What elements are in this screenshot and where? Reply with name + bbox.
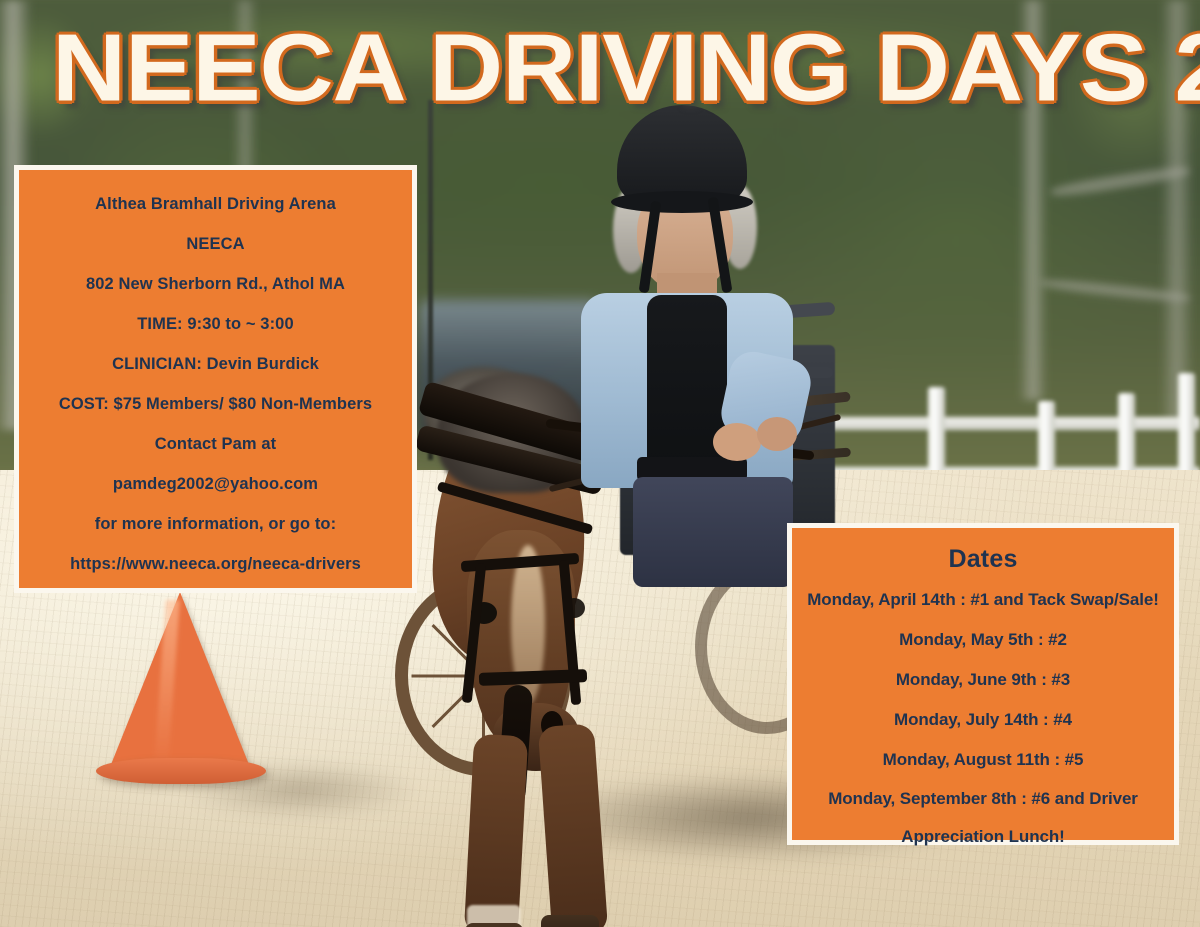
info-line-time: TIME: 9:30 to ~ 3:00 [29, 304, 402, 344]
info-line-address: 802 New Sherborn Rd., Athol MA [29, 264, 402, 304]
info-line-cost: COST: $75 Members/ $80 Non-Members [29, 384, 402, 424]
info-line-venue: Althea Bramhall Driving Arena [29, 184, 402, 224]
event-info-panel: Althea Bramhall Driving Arena NEECA 802 … [14, 165, 417, 593]
cart-driver [575, 105, 795, 525]
date-entry-1: Monday, April 14th : #1 and Tack Swap/Sa… [798, 580, 1168, 620]
date-entry-3: Monday, June 9th : #3 [798, 660, 1168, 700]
date-entry-4: Monday, July 14th : #4 [798, 700, 1168, 740]
info-line-email[interactable]: pamdeg2002@yahoo.com [29, 464, 402, 504]
date-entry-2: Monday, May 5th : #2 [798, 620, 1168, 660]
date-entry-5: Monday, August 11th : #5 [798, 740, 1168, 780]
info-line-clinician: CLINICIAN: Devin Burdick [29, 344, 402, 384]
traffic-cone-base [96, 758, 266, 784]
driver-lap-apron [633, 477, 793, 587]
event-poster: NEECA DRIVING DAYS 2025 Althea Bramhall … [0, 0, 1200, 927]
date-entry-6: Monday, September 8th : #6 and Driver Ap… [798, 780, 1168, 856]
driver-hand [757, 417, 797, 451]
pony-hoof [465, 923, 523, 927]
info-line-more-info: for more information, or go to: [29, 504, 402, 544]
info-line-contact: Contact Pam at [29, 424, 402, 464]
info-line-website[interactable]: https://www.neeca.org/neeca-drivers [29, 544, 402, 584]
traffic-cone [108, 592, 252, 772]
pony-hoof [541, 915, 599, 927]
info-line-organization: NEECA [29, 224, 402, 264]
poster-title: NEECA DRIVING DAYS 2025 [52, 18, 1200, 120]
pony-foreleg [464, 734, 528, 927]
dates-panel: Dates Monday, April 14th : #1 and Tack S… [787, 523, 1179, 845]
pony-and-cart [395, 105, 825, 895]
driver-hand [713, 423, 761, 461]
riding-helmet-brim [611, 191, 753, 213]
dates-heading: Dates [798, 538, 1168, 580]
